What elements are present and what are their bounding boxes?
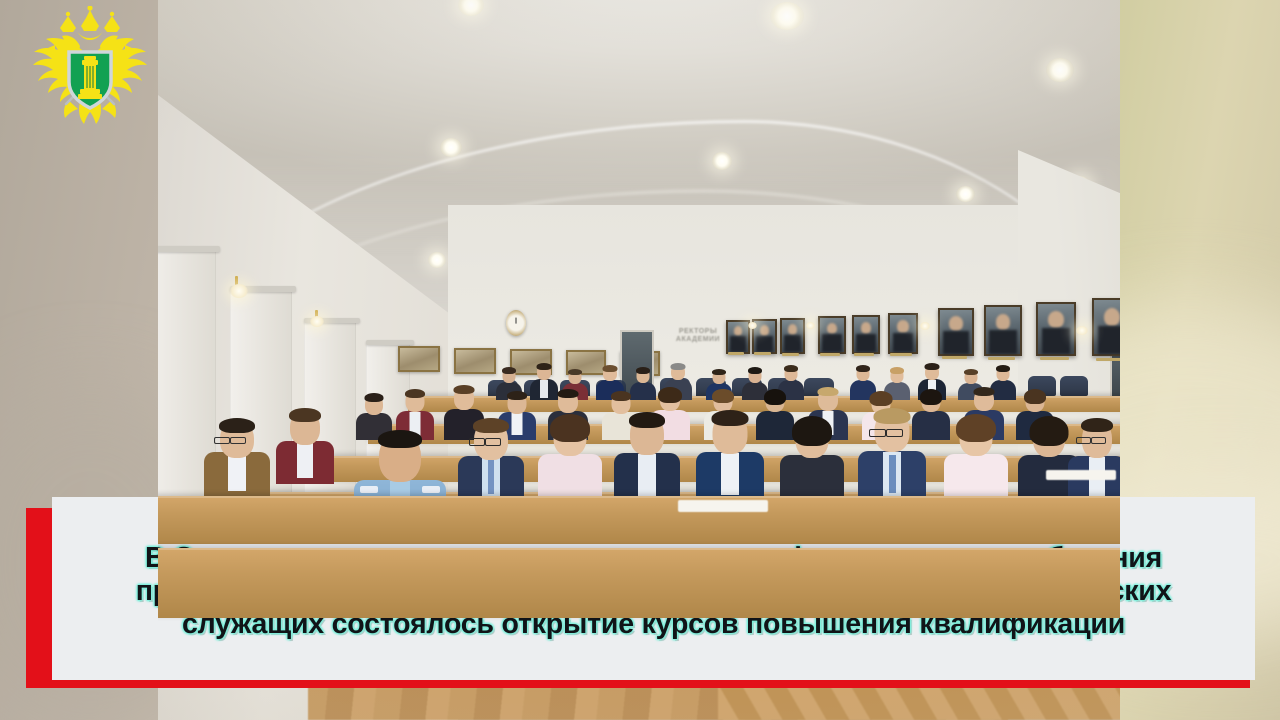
attendee [276,410,334,484]
rector-portrait [888,313,918,354]
rector-portrait [726,320,750,354]
portrait-plaque [820,353,840,356]
attendee-with-glasses [458,420,524,504]
wall-clock [506,310,526,336]
portrait-plaque [782,353,799,356]
ceiling-downlight [428,252,446,268]
portrait-plaque [1096,358,1120,361]
desk-papers [1046,470,1116,480]
attendee [696,412,764,504]
portrait-plaque [942,356,967,359]
portrait-plaque [854,353,874,356]
ceiling-downlight [1046,58,1074,82]
auditorium-chair [1060,376,1088,396]
front-desk-panel [158,496,1120,544]
rector-portrait [852,315,880,354]
attendee [614,414,680,504]
front-desk-panel-lower [158,548,1120,618]
attendee-with-glasses [204,420,270,496]
ceiling-downlight [770,2,804,30]
landscape-painting [398,346,440,372]
blind-rail [366,340,414,345]
ceiling-downlight [956,186,975,202]
rector-portrait [818,316,846,354]
desk-papers [678,500,768,512]
rector-portrait [1092,298,1120,356]
portrait-plaque [988,357,1015,360]
rector-portrait [984,305,1022,356]
portrait-plaque [728,352,744,355]
attendee [780,418,844,504]
ceiling-downlight [712,152,732,170]
attendee [538,416,602,504]
blind-rail [158,246,220,252]
portrait-plaque [1040,357,1069,360]
rector-portrait [938,308,974,356]
rector-portrait [1036,302,1076,356]
portrait-plaque [754,352,771,355]
landscape-painting [454,348,496,374]
attendee [944,416,1008,504]
portrait-plaque [890,353,912,356]
ceiling-downlight [440,138,462,157]
attendee-with-glasses [1068,420,1120,504]
lecture-hall-photo: РЕКТОРЫ АКАДЕМИИ [158,0,1120,720]
prosecutor-eagle-emblem [24,6,156,132]
rector-portrait [780,318,805,354]
image-canvas: РЕКТОРЫ АКАДЕМИИ [0,0,1280,720]
wall-sign-text: РЕКТОРЫ АКАДЕМИИ [668,328,728,344]
attendee-with-glasses [858,410,926,504]
